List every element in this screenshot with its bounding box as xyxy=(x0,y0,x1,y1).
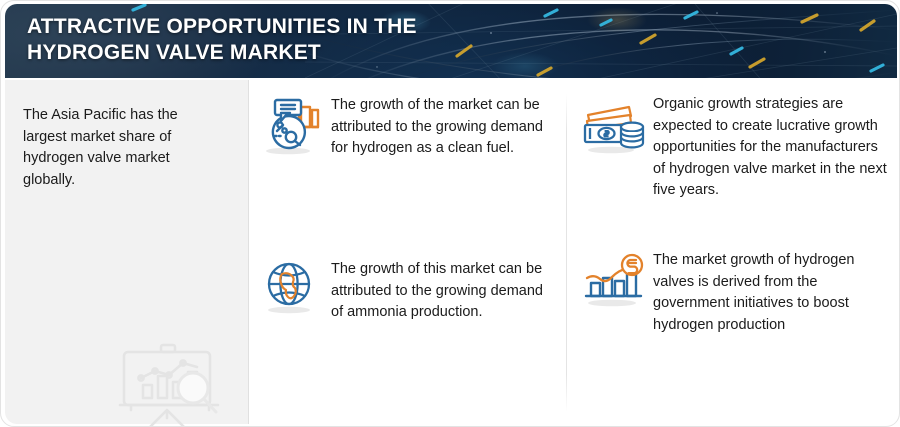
region-statement: The Asia Pacific has the largest market … xyxy=(23,105,218,191)
page-title: ATTRACTIVE OPPORTUNITIES IN THE HYDROGEN… xyxy=(27,14,507,66)
growth-bar-chart-icon xyxy=(577,250,649,312)
market-analysis-icon xyxy=(255,94,327,156)
presentation-chart-magnifier-icon xyxy=(117,338,227,427)
insight-text: The growth of the market can be attribut… xyxy=(331,94,555,160)
money-cash-coins-icon xyxy=(577,94,649,156)
insight-text: The growth of this market can be attribu… xyxy=(331,258,555,324)
globe-icon xyxy=(255,258,327,320)
insight-text: The market growth of hydrogen valves is … xyxy=(653,250,891,336)
infographic-root: ATTRACTIVE OPPORTUNITIES IN THE HYDROGEN… xyxy=(0,0,900,427)
insight-card-growth-clean-fuel: The growth of the market can be attribut… xyxy=(255,94,555,160)
insight-card-ammonia-production: The growth of this market can be attribu… xyxy=(255,258,555,324)
content-grid: The growth of the market can be attribut… xyxy=(249,80,897,424)
left-region-panel: The Asia Pacific has the largest market … xyxy=(5,80,249,424)
vertical-divider xyxy=(566,94,567,412)
insight-card-government-initiatives: The market growth of hydrogen valves is … xyxy=(577,250,891,336)
header-banner: ATTRACTIVE OPPORTUNITIES IN THE HYDROGEN… xyxy=(5,4,897,78)
insight-text: Organic growth strategies are expected t… xyxy=(653,94,891,202)
insight-card-organic-growth: Organic growth strategies are expected t… xyxy=(577,94,891,202)
